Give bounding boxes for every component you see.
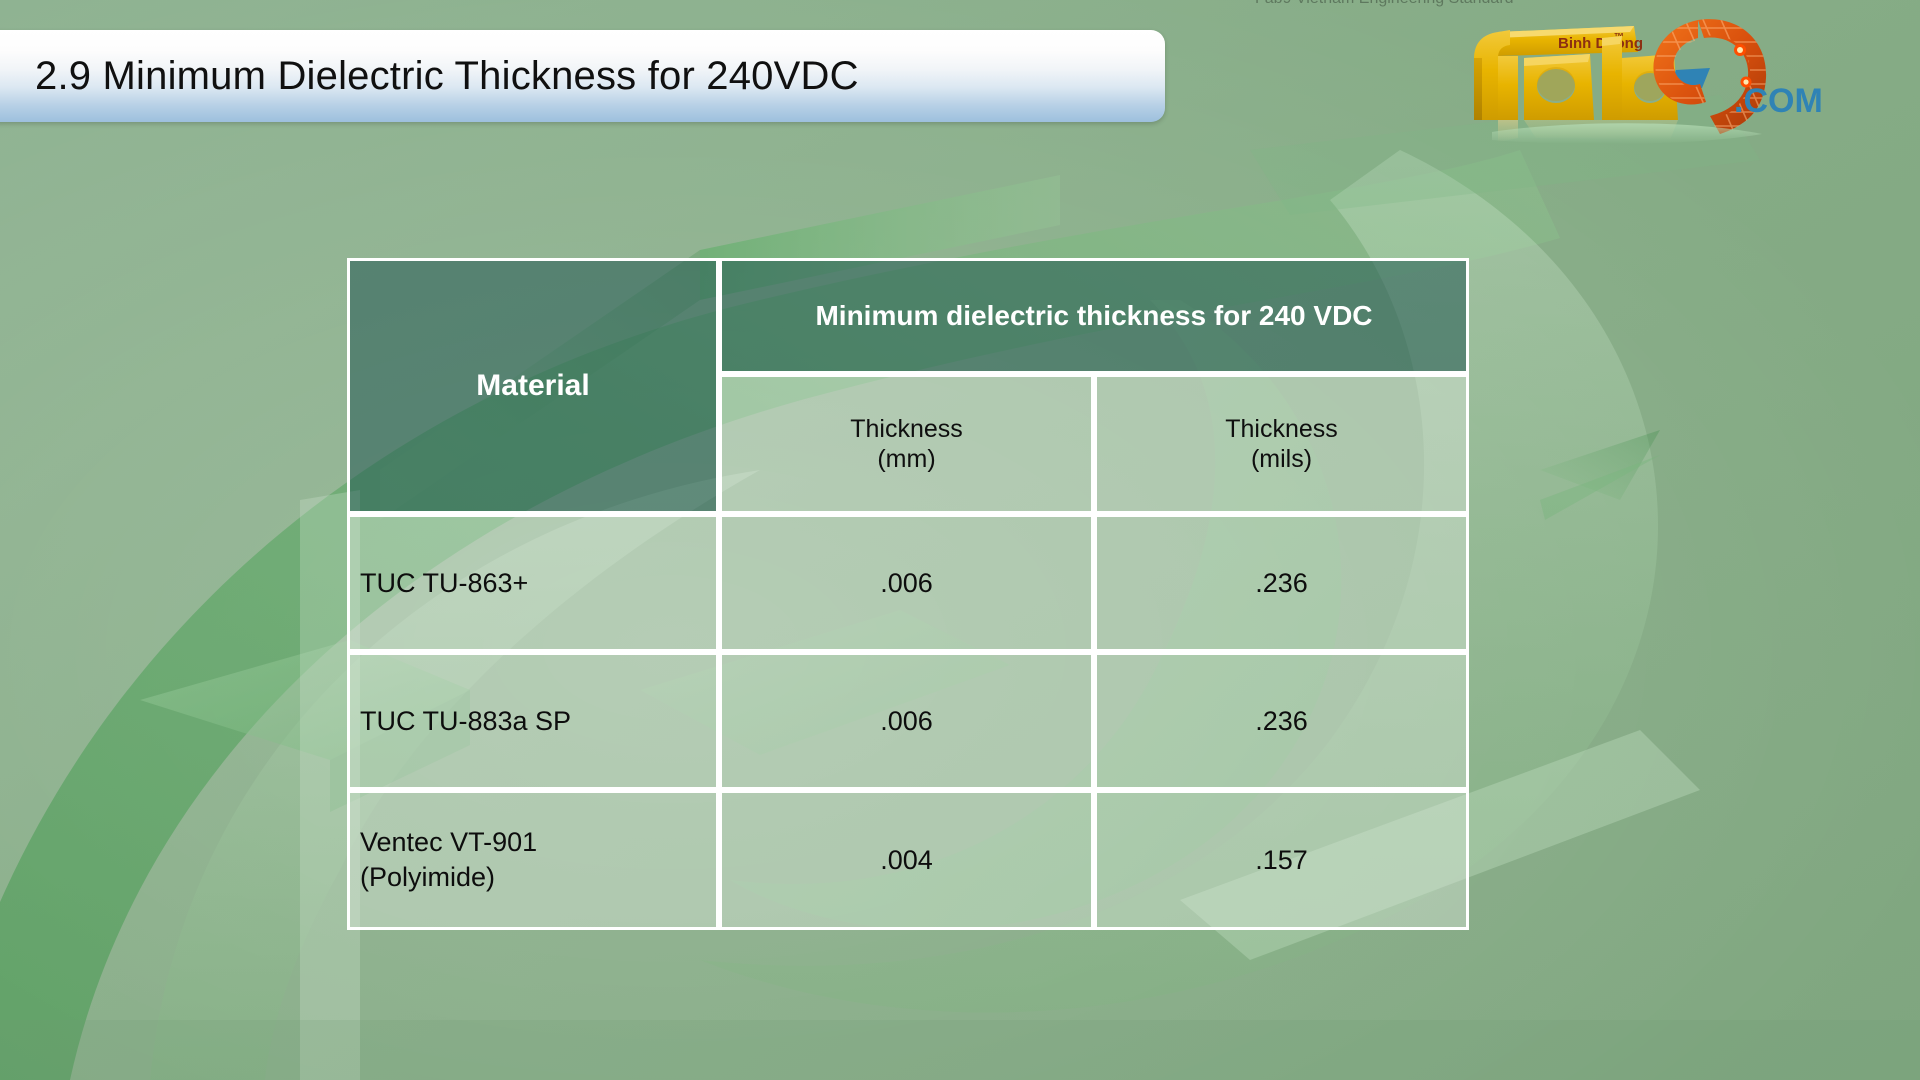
cell-thickness-mm: .006 bbox=[719, 652, 1094, 790]
cell-thickness-mils: .157 bbox=[1094, 790, 1469, 930]
logo-letter-a bbox=[1524, 54, 1594, 120]
table-row: TUC TU-863+ .006 .236 bbox=[347, 514, 1469, 652]
cell-thickness-mm: .004 bbox=[719, 790, 1094, 930]
table-header-material: Material bbox=[347, 258, 719, 514]
page-title: 2.9 Minimum Dielectric Thickness for 240… bbox=[35, 54, 859, 99]
subheader-mm-line2: (mm) bbox=[877, 445, 935, 473]
cell-thickness-mils: .236 bbox=[1094, 514, 1469, 652]
dielectric-thickness-table: Material Minimum dielectric thickness fo… bbox=[347, 258, 1469, 930]
fab9-logo[interactable]: Binh Duong ™ bbox=[1462, 8, 1882, 146]
cell-thickness-mils: .236 bbox=[1094, 652, 1469, 790]
material-name-line2: (Polyimide) bbox=[360, 862, 495, 892]
table-subheader-thickness-mm: Thickness (mm) bbox=[719, 374, 1094, 514]
cell-material-name: TUC TU-883a SP bbox=[347, 652, 719, 790]
slide-title-banner: 2.9 Minimum Dielectric Thickness for 240… bbox=[0, 30, 1165, 122]
table-header-row-1: Material Minimum dielectric thickness fo… bbox=[347, 258, 1469, 374]
table-header-group-min-dielectric: Minimum dielectric thickness for 240 VDC bbox=[719, 258, 1469, 374]
table-subheader-thickness-mils: Thickness (mils) bbox=[1094, 374, 1469, 514]
cell-thickness-mm: .006 bbox=[719, 514, 1094, 652]
table-row: TUC TU-883a SP .006 .236 bbox=[347, 652, 1469, 790]
cell-material-name: Ventec VT-901 (Polyimide) bbox=[347, 790, 719, 930]
subheader-mm-line1: Thickness bbox=[850, 415, 963, 443]
table-row: Ventec VT-901 (Polyimide) .004 .157 bbox=[347, 790, 1469, 930]
logo-tagline-text: Binh Duong bbox=[1558, 35, 1643, 52]
cell-material-name: TUC TU-863+ bbox=[347, 514, 719, 652]
material-name-line1: Ventec VT-901 bbox=[360, 827, 537, 857]
top-artifact-text: Fab9 Vietnam Engineering Standard bbox=[1255, 0, 1535, 7]
subheader-mils-line2: (mils) bbox=[1251, 445, 1312, 473]
logo-dotcom-text: .COM bbox=[1734, 82, 1823, 120]
bottom-shade bbox=[0, 1020, 1920, 1080]
subheader-mils-line1: Thickness bbox=[1225, 415, 1338, 443]
